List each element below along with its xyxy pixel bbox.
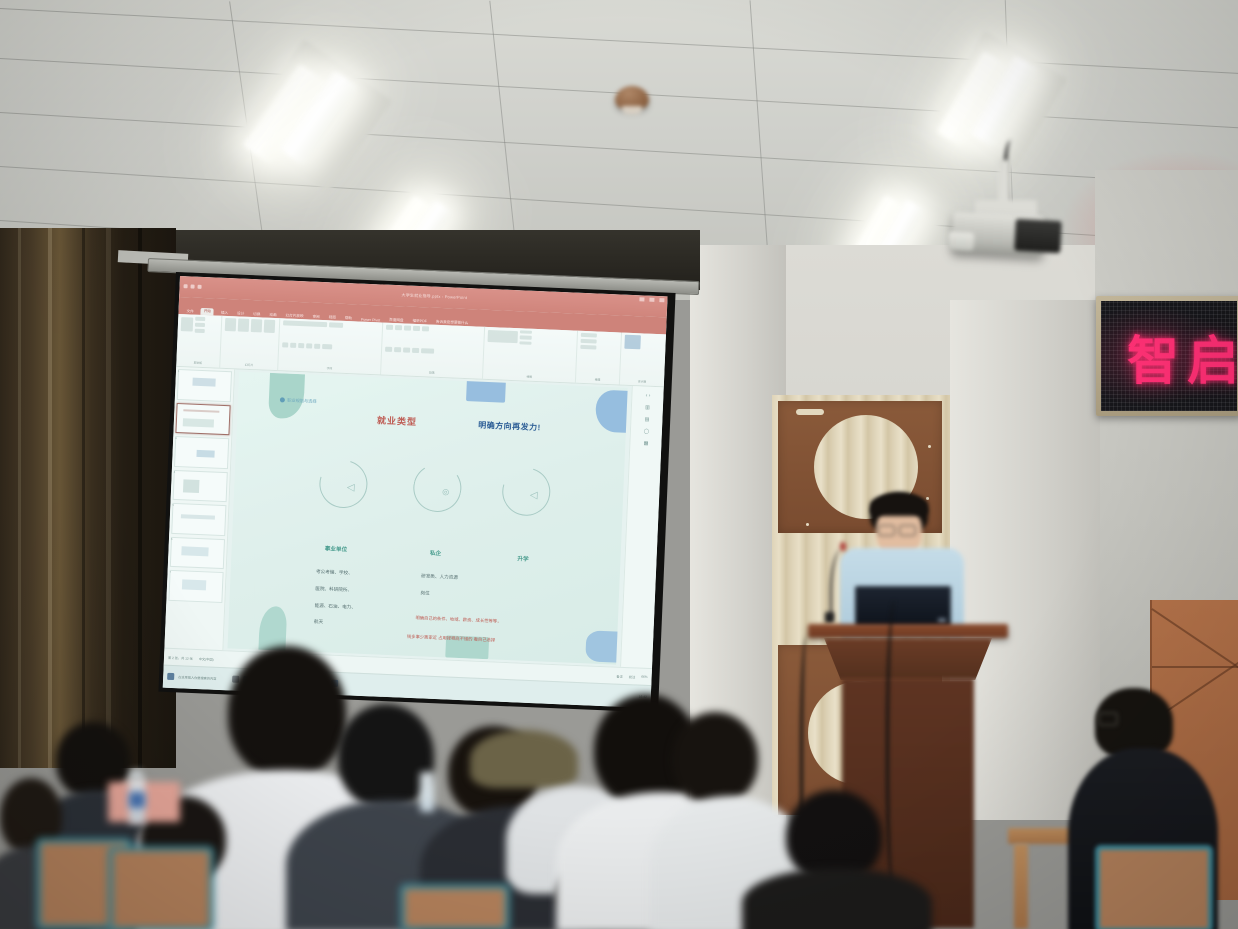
paper-plane-icon-1: ◁ — [347, 482, 355, 493]
audience-head — [228, 646, 346, 778]
thumbnail-number: 4 — [174, 471, 176, 474]
comments-button[interactable]: 批注 — [629, 674, 636, 679]
tab-view[interactable]: 视图 — [327, 315, 338, 320]
ribbon-group-editing[interactable]: 编辑 — [576, 331, 622, 385]
italic-icon[interactable] — [291, 343, 297, 348]
font-size-box[interactable] — [329, 322, 343, 328]
shadow-icon[interactable] — [307, 344, 313, 349]
podium-cable-center — [886, 600, 906, 900]
collapse-icon[interactable]: ‹ › — [646, 393, 651, 399]
font-name-box[interactable] — [283, 320, 327, 327]
restore-icon[interactable] — [649, 298, 654, 302]
select-icon[interactable] — [580, 345, 596, 350]
slide-editing-stage[interactable]: 职业规划与选择 就业类型 明确方向再发力! ◁ ◎ ◁ 事业单位 私企 升学 — [223, 370, 632, 667]
tab-transitions[interactable]: 切换 — [251, 312, 262, 317]
projector-rear-panel — [1014, 219, 1062, 253]
projection-screen: 大学生就业指导.pptx - PowerPoint 文件 开始 插入 设计 切换… — [163, 276, 668, 708]
group-label-editing: 编辑 — [579, 377, 616, 383]
thumbnail-number: 2 — [177, 404, 179, 407]
decor-ring-3 — [494, 459, 559, 524]
layout-icon[interactable] — [238, 318, 250, 331]
spiral-icon: ◎ — [442, 487, 449, 496]
microphone-gooseneck — [830, 548, 852, 620]
paste-icon[interactable] — [181, 317, 194, 331]
ribbon-group-clipboard[interactable]: 剪贴板 — [176, 314, 222, 368]
thumbnail-number: 3 — [175, 437, 177, 440]
format-painter-icon[interactable] — [195, 329, 205, 333]
column-line: 岗位 — [420, 590, 429, 596]
ribbon-group-slides[interactable]: 幻灯片 — [220, 316, 281, 371]
tab-slideshow[interactable]: 幻灯片放映 — [283, 313, 305, 319]
numbering-icon[interactable] — [395, 325, 402, 330]
microphone-base — [825, 612, 834, 623]
slide-indicator: 第 2 张，共 12 张 — [168, 655, 193, 661]
reset-icon[interactable] — [251, 319, 263, 332]
audience-shoulders — [742, 868, 932, 929]
new-slide-icon[interactable] — [225, 318, 237, 331]
tab-file[interactable]: 文件 — [184, 309, 195, 314]
search-box[interactable]: 在这里输入你要搜索的内容 — [178, 675, 216, 682]
column-heading-study: 升学 — [517, 554, 529, 562]
cut-icon[interactable] — [195, 317, 205, 321]
audience-chair — [108, 846, 214, 929]
decor-panel-slot — [796, 409, 824, 415]
slide-thumbnail[interactable]: 4 — [173, 470, 228, 503]
slide-note-1: 明确自己的条件、地域、薪资、成长性等等， — [415, 615, 501, 625]
column-line: 能源、石油、电力、 — [314, 603, 356, 611]
tab-foxit-pdf[interactable]: 福昕PDF — [410, 319, 429, 325]
water-bottle-cap — [131, 771, 142, 779]
column-heading-private: 私企 — [430, 549, 442, 557]
presenter-hair-top — [870, 494, 928, 516]
ppt-work-area: 1 2 3 4 — [164, 367, 663, 668]
notes-button[interactable]: 备注 — [616, 673, 623, 678]
decor-blob-topright — [595, 390, 628, 433]
ribbon-group-paragraph[interactable]: 段落 — [381, 322, 486, 379]
stage-curtain — [0, 228, 176, 768]
quick-access-toolbar[interactable] — [183, 284, 201, 289]
slide-title: 就业类型 — [377, 414, 418, 429]
panel-screw — [928, 445, 931, 448]
design-ideas-icon[interactable] — [624, 335, 641, 350]
bullet-dot-icon — [280, 398, 285, 403]
tab-animations[interactable]: 动画 — [267, 313, 278, 318]
minimize-icon[interactable] — [639, 297, 644, 301]
laptop-logo — [938, 618, 946, 623]
tab-help[interactable]: 帮助 — [343, 316, 354, 321]
powerpoint-window: 大学生就业指导.pptx - PowerPoint 文件 开始 插入 设计 切换… — [163, 276, 668, 708]
slide-thumbnail[interactable]: 7 — [168, 570, 223, 603]
sidebar-icon-2[interactable]: ▤ — [645, 417, 650, 423]
slide-thumbnail[interactable]: 6 — [170, 537, 225, 570]
sidebar-icon-1[interactable]: ▥ — [645, 405, 650, 411]
language-indicator[interactable]: 中文(中国) — [199, 656, 214, 662]
strikethrough-icon[interactable] — [315, 344, 321, 349]
decrease-indent-icon[interactable] — [404, 325, 411, 330]
audience-head — [672, 712, 758, 804]
find-icon[interactable] — [581, 333, 597, 338]
copy-icon[interactable] — [195, 323, 205, 327]
paper-plane-icon-2: ◁ — [530, 490, 538, 501]
decor-blob-topleft — [268, 373, 305, 419]
sidebar-icon-4[interactable]: ▦ — [644, 441, 649, 447]
ribbon-group-font[interactable]: 字体 — [279, 318, 384, 375]
audience-cap — [470, 730, 578, 788]
shape-outline-icon[interactable] — [520, 336, 532, 340]
tab-design[interactable]: 设计 — [235, 311, 246, 316]
save-icon[interactable] — [183, 284, 187, 288]
water-bottle — [420, 772, 434, 812]
smoke-detector-icon — [615, 86, 649, 110]
thumbnail-number: 1 — [178, 370, 180, 373]
ribbon-group-drawing[interactable]: 绘图 — [483, 327, 578, 383]
underline-icon[interactable] — [299, 343, 305, 348]
led-matrix-panel: 智启职 — [1101, 301, 1237, 411]
undo-icon[interactable] — [190, 285, 194, 289]
close-icon[interactable] — [659, 298, 664, 302]
bullets-icon[interactable] — [386, 325, 393, 330]
slide-subtitle: 明确方向再发力! — [478, 419, 541, 433]
group-label-designer: 设计器 — [623, 379, 661, 385]
redo-icon[interactable] — [197, 285, 201, 289]
projector-lens — [948, 231, 975, 250]
current-slide[interactable]: 职业规划与选择 就业类型 明确方向再发力! ◁ ◎ ◁ 事业单位 私企 升学 — [227, 372, 628, 665]
thumbnail-number: 6 — [171, 538, 173, 541]
tab-baidu-netdisk[interactable]: 百度网盘 — [387, 318, 406, 324]
document-title: 大学生就业指导.pptx - PowerPoint — [401, 293, 467, 302]
side-table-leg — [1014, 844, 1028, 929]
water-bottle-label — [129, 792, 145, 808]
font-color-icon[interactable] — [323, 344, 333, 349]
thumbnail-number: 5 — [172, 504, 174, 507]
lecture-hall-photo: 大学生就业指导.pptx - PowerPoint 文件 开始 插入 设计 切换… — [0, 0, 1238, 929]
shapes-gallery[interactable] — [488, 330, 518, 343]
led-sign-text: 智启职 — [1101, 319, 1237, 394]
decor-ring-1 — [311, 451, 376, 516]
presenter-glasses-right — [899, 525, 916, 536]
replace-icon[interactable] — [581, 339, 597, 344]
slide-thumbnail-selected[interactable]: 2 — [175, 403, 230, 436]
align-left-icon[interactable] — [385, 347, 392, 352]
decor-blob-bottomright — [585, 631, 621, 663]
slide-thumbnail[interactable]: 5 — [171, 503, 226, 536]
zoom-level[interactable]: 66% — [641, 675, 648, 679]
audience-member-right-glasses — [1098, 712, 1118, 726]
tab-review[interactable]: 审阅 — [310, 314, 321, 319]
column-heading-public: 事业单位 — [325, 545, 348, 554]
decor-ring-2 — [409, 459, 466, 516]
start-button-icon[interactable] — [167, 673, 174, 680]
tab-home[interactable]: 开始 — [201, 308, 214, 316]
slide-thumbnail[interactable]: 1 — [177, 369, 232, 402]
line-spacing-icon[interactable] — [422, 326, 429, 331]
presenter-laptop[interactable] — [855, 586, 951, 628]
align-center-icon[interactable] — [394, 347, 401, 352]
group-label-clipboard: 剪贴板 — [179, 360, 216, 366]
audience-chair-right — [1095, 845, 1213, 929]
decor-blob-topmid — [466, 376, 506, 403]
column-line: 医院、科研院所、 — [315, 586, 352, 594]
column-line: 研发类、人力资源 — [421, 574, 458, 582]
bold-icon[interactable] — [283, 343, 289, 348]
microphone-head — [840, 542, 846, 551]
presenter-glasses-left — [878, 525, 895, 536]
sidebar-icon-3[interactable]: ◯ — [644, 429, 650, 435]
columns-icon[interactable] — [421, 348, 434, 354]
thumbnail-number: 7 — [170, 571, 172, 574]
window-controls[interactable] — [639, 297, 664, 302]
led-display-board: 智启职 — [1096, 296, 1238, 416]
shape-fill-icon[interactable] — [520, 330, 532, 334]
group-label-slides: 幻灯片 — [223, 362, 275, 368]
slide-thumbnail[interactable]: 3 — [174, 436, 229, 469]
podium-face — [824, 638, 992, 680]
align-right-icon[interactable] — [403, 348, 410, 353]
tab-insert[interactable]: 插入 — [219, 311, 230, 316]
justify-icon[interactable] — [412, 348, 419, 353]
section-icon[interactable] — [264, 319, 276, 332]
podium-top — [808, 624, 1008, 638]
column-line: 考公考编、学校、 — [316, 569, 353, 577]
group-label-drawing: 绘图 — [486, 373, 572, 381]
increase-indent-icon[interactable] — [413, 326, 420, 331]
shape-effects-icon[interactable] — [520, 341, 532, 345]
ribbon-group-designer[interactable]: 设计器 — [620, 332, 666, 386]
audience-chair — [400, 884, 510, 929]
column-line: 航天 — [314, 619, 323, 625]
panel-screw — [806, 523, 809, 526]
